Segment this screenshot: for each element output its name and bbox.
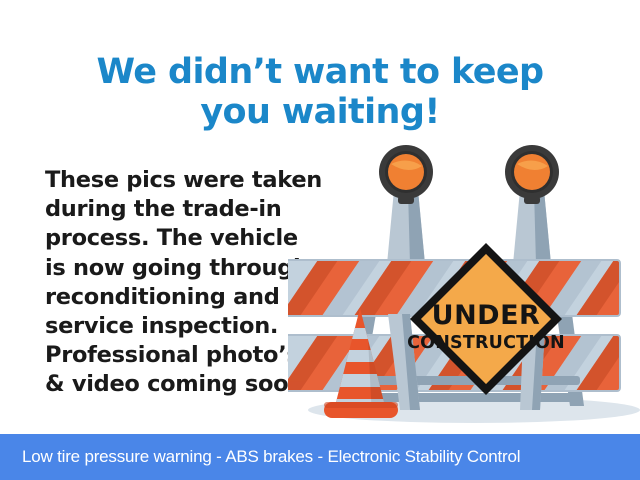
sign-line-2: CONSTRUCTION — [407, 333, 565, 353]
page-title: We didn’t want to keep you waiting! — [0, 52, 640, 132]
promo-slide: We didn’t want to keep you waiting! Thes… — [0, 0, 640, 480]
bottom-banner: Low tire pressure warning - ABS brakes -… — [0, 434, 640, 480]
sign-line-1: UNDER — [432, 300, 541, 331]
headline-line-1: We didn’t want to keep — [0, 52, 640, 92]
under-construction-illustration: UNDER CONSTRUCTION — [288, 138, 640, 430]
bottom-banner-text: Low tire pressure warning - ABS brakes -… — [22, 447, 520, 467]
headline-line-2: you waiting! — [0, 92, 640, 132]
warning-lamp-left — [379, 145, 433, 204]
warning-lamp-right — [505, 145, 559, 204]
